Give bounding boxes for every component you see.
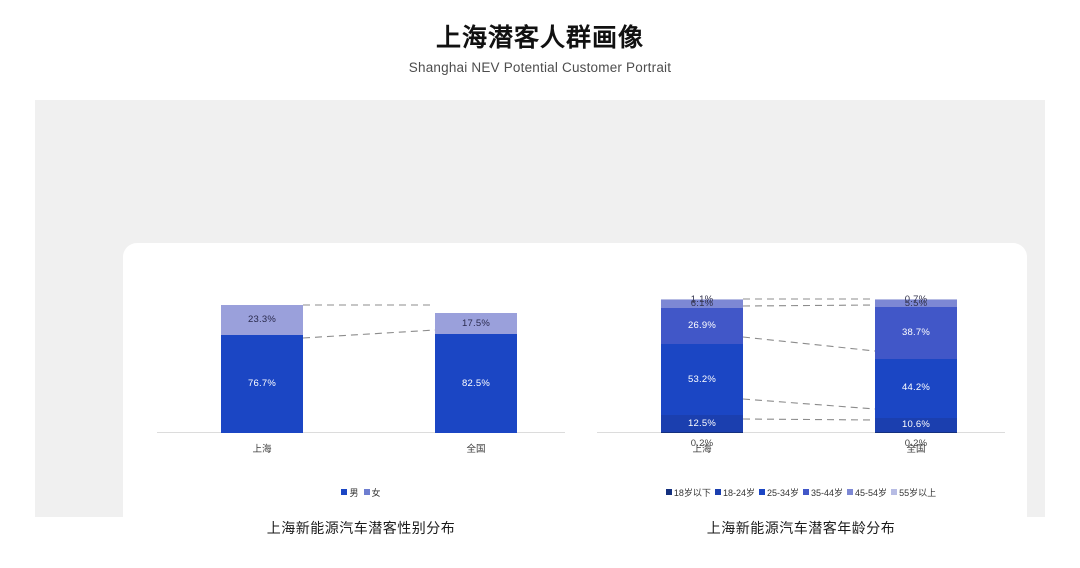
age-legend: 18岁以下 18-24岁 25-34岁 35-44岁 45-54岁 [581, 484, 1021, 500]
gender-legend-item-male[interactable]: 男 [341, 486, 358, 499]
age-segment-18-24-shanghai[interactable]: 12.5% [661, 415, 743, 432]
age-tick-shanghai: 上海 [661, 441, 743, 455]
age-plot-area: 0.2% 12.5% 53.2% 26.9% 6.1% 1. [581, 291, 1021, 481]
gender-legend-item-female[interactable]: 女 [364, 486, 381, 499]
legend-swatch-icon [803, 489, 809, 495]
content-panel: 76.7% 23.3% 82.5% 17.5% 上海 全国 [35, 100, 1045, 517]
age-segment-25-34-shanghai[interactable]: 53.2% [661, 344, 743, 415]
age-bar-shanghai[interactable]: 0.2% 12.5% 53.2% 26.9% 6.1% 1. [661, 299, 743, 433]
legend-swatch-icon [715, 489, 721, 495]
legend-swatch-icon [759, 489, 765, 495]
age-legend-label-45-54: 45-54岁 [855, 486, 887, 499]
legend-swatch-icon [341, 489, 347, 495]
gender-legend-label-male: 男 [349, 486, 358, 499]
page-title: 上海潜客人群画像 [436, 22, 644, 54]
age-chart-caption: 上海新能源汽车潜客年龄分布 [581, 518, 1021, 538]
age-segment-under18-national[interactable]: 0.2% [875, 432, 957, 433]
gender-chart: 76.7% 23.3% 82.5% 17.5% 上海 全国 [141, 243, 581, 568]
gender-bar-national[interactable]: 82.5% 17.5% [435, 313, 517, 433]
gender-chart-caption: 上海新能源汽车潜客性别分布 [141, 518, 581, 538]
age-legend-label-25-34: 25-34岁 [767, 486, 799, 499]
gender-tick-national: 全国 [435, 441, 517, 455]
age-legend-item-25-34[interactable]: 25-34岁 [759, 486, 799, 499]
age-segment-35-44-national[interactable]: 38.7% [875, 307, 957, 359]
gender-segment-male-shanghai[interactable]: 76.7% [221, 335, 303, 433]
age-legend-item-over55[interactable]: 55岁以上 [891, 486, 936, 499]
age-legend-item-18-24[interactable]: 18-24岁 [715, 486, 755, 499]
age-legend-item-35-44[interactable]: 35-44岁 [803, 486, 843, 499]
gender-segment-female-national[interactable]: 17.5% [435, 313, 517, 334]
page-subtitle: Shanghai NEV Potential Customer Portrait [409, 58, 671, 78]
gender-segment-male-national[interactable]: 82.5% [435, 334, 517, 433]
gender-bar-shanghai[interactable]: 76.7% 23.3% [221, 305, 303, 433]
gender-tick-shanghai: 上海 [221, 441, 303, 455]
age-segment-over55-shanghai[interactable]: 1.1% [661, 299, 743, 301]
legend-swatch-icon [891, 489, 897, 495]
age-legend-label-over55: 55岁以上 [899, 486, 936, 499]
age-chart: 0.2% 12.5% 53.2% 26.9% 6.1% 1. [581, 243, 1021, 568]
age-bar-national[interactable]: 0.2% 10.6% 44.2% 38.7% 5.5% 0. [875, 299, 957, 433]
age-segment-35-44-shanghai[interactable]: 26.9% [661, 308, 743, 344]
legend-swatch-icon [364, 489, 370, 495]
gender-segment-female-shanghai[interactable]: 23.3% [221, 305, 303, 335]
age-segment-under18-shanghai[interactable]: 0.2% [661, 432, 743, 433]
age-segment-over55-national[interactable]: 0.7% [875, 299, 957, 300]
age-segment-25-34-national[interactable]: 44.2% [875, 359, 957, 418]
gender-legend-label-female: 女 [372, 486, 381, 499]
age-legend-item-45-54[interactable]: 45-54岁 [847, 486, 887, 499]
charts-card: 76.7% 23.3% 82.5% 17.5% 上海 全国 [123, 243, 1027, 568]
page-header: 上海潜客人群画像 Shanghai NEV Potential Customer… [0, 0, 1080, 100]
age-legend-label-18-24: 18-24岁 [723, 486, 755, 499]
age-segment-18-24-national[interactable]: 10.6% [875, 418, 957, 433]
age-tick-national: 全国 [875, 441, 957, 455]
gender-legend: 男 女 [141, 484, 581, 500]
legend-swatch-icon [666, 489, 672, 495]
age-legend-item-under18[interactable]: 18岁以下 [666, 486, 711, 499]
age-legend-label-under18: 18岁以下 [674, 486, 711, 499]
legend-swatch-icon [847, 489, 853, 495]
gender-plot-area: 76.7% 23.3% 82.5% 17.5% 上海 全国 [141, 291, 581, 481]
age-legend-label-35-44: 35-44岁 [811, 486, 843, 499]
